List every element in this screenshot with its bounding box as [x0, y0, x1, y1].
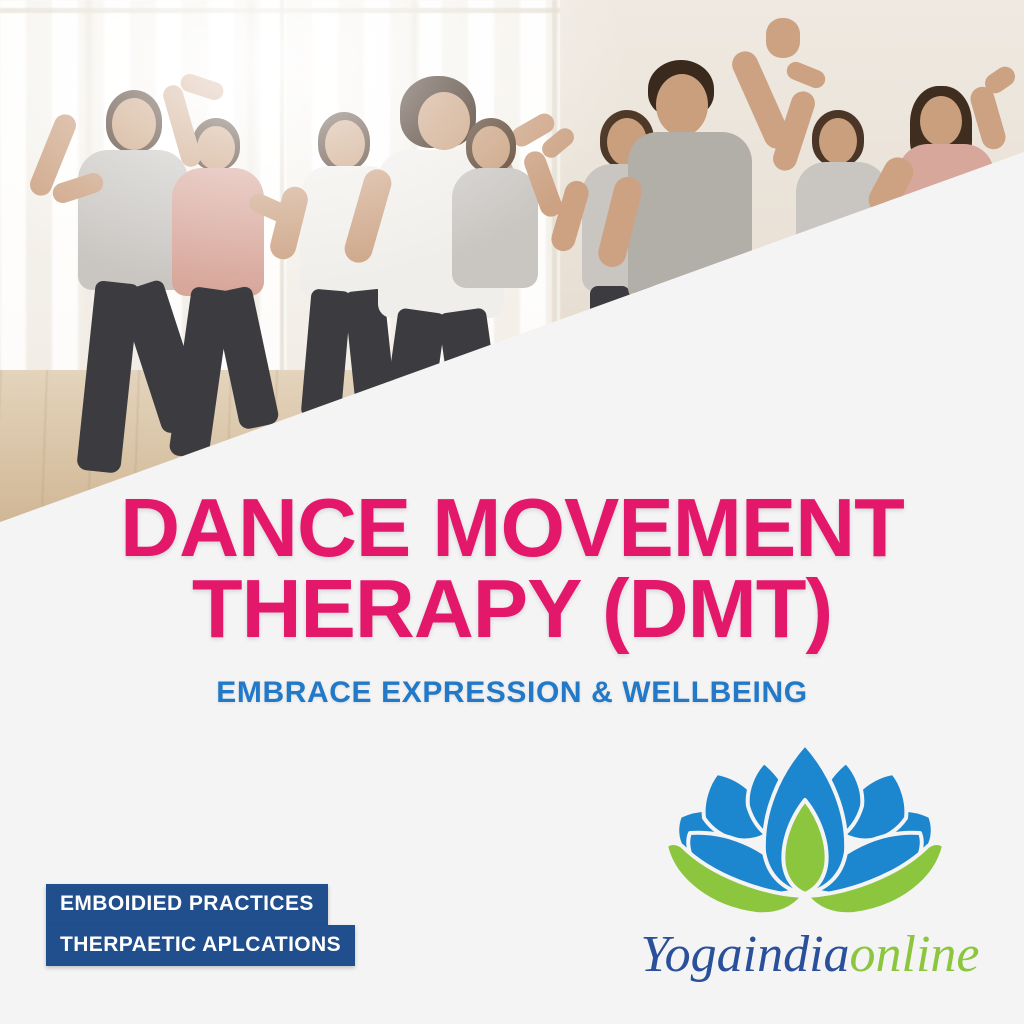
title-line-1: DANCE MOVEMENT	[120, 481, 904, 574]
poster: DANCE MOVEMENT THERAPY (DMT) EMBRACE EXP…	[0, 0, 1024, 1024]
lotus-flower-icon	[660, 738, 950, 928]
brand-wordmark: Yogaindiaonline	[630, 928, 990, 983]
page-subtitle: EMBRACE EXPRESSION & WELLBEING	[0, 676, 1024, 710]
badge-group: EMBOIDIED PRACTICES THERPAETIC APLCATION…	[46, 884, 355, 966]
window-light-glow	[0, 0, 1024, 430]
badge-row: EMBOIDIED PRACTICES	[46, 884, 355, 925]
badge-therapeutic-applications[interactable]: THERPAETIC APLCATIONS	[46, 925, 355, 966]
badge-row: THERPAETIC APLCATIONS	[46, 925, 355, 966]
wordmark-yogaindia: Yogaindia	[640, 926, 849, 983]
page-title: DANCE MOVEMENT THERAPY (DMT)	[0, 487, 1024, 650]
hero-photo	[0, 0, 1024, 560]
brand-logo[interactable]: Yogaindiaonline	[630, 738, 990, 1000]
badge-embodied-practices[interactable]: EMBOIDIED PRACTICES	[46, 884, 328, 925]
wordmark-online: online	[850, 926, 980, 983]
title-line-2: THERAPY (DMT)	[0, 568, 1024, 649]
